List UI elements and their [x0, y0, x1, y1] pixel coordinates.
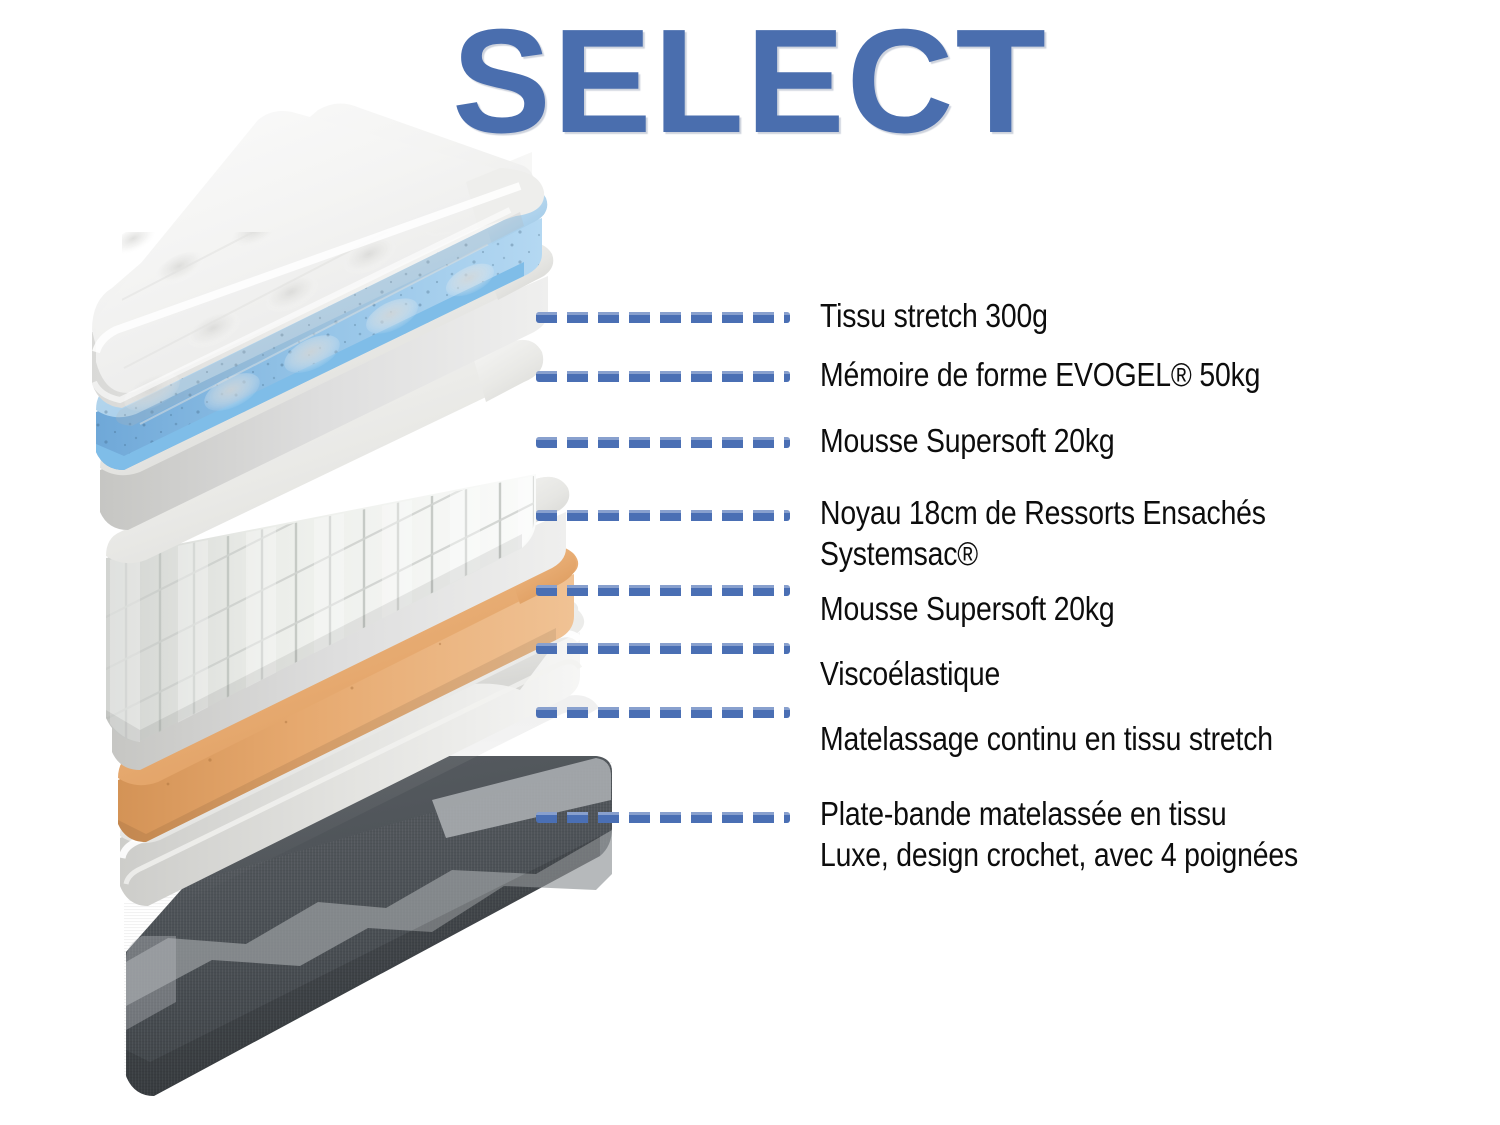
layer-label-visco: Viscoélastique	[820, 653, 1000, 694]
layer-label-evogel: Mémoire de forme EVOGEL® 50kg	[820, 354, 1260, 395]
layer-label-border: Plate-bande matelassée en tissu Luxe, de…	[820, 793, 1298, 875]
layer-label-spring-core: Noyau 18cm de Ressorts Ensachés Systemsa…	[820, 492, 1266, 574]
leader-line-cover	[536, 312, 790, 323]
leader-line-border	[536, 812, 790, 823]
layer-label-supersoft-top: Mousse Supersoft 20kg	[820, 420, 1115, 461]
leader-line-evogel	[536, 371, 790, 382]
layer-label-supersoft-bottom: Mousse Supersoft 20kg	[820, 588, 1115, 629]
layer-label-quilting: Matelassage continu en tissu stretch	[820, 718, 1273, 759]
leader-line-visco	[536, 643, 790, 654]
leader-line-supersoft-bottom	[536, 585, 790, 596]
leader-line-spring-core	[536, 510, 790, 521]
mattress-cutaway-illustration	[0, 0, 700, 1125]
leader-line-quilting	[536, 707, 790, 718]
leader-line-supersoft-top	[536, 437, 790, 448]
layer-label-cover: Tissu stretch 300g	[820, 295, 1048, 336]
